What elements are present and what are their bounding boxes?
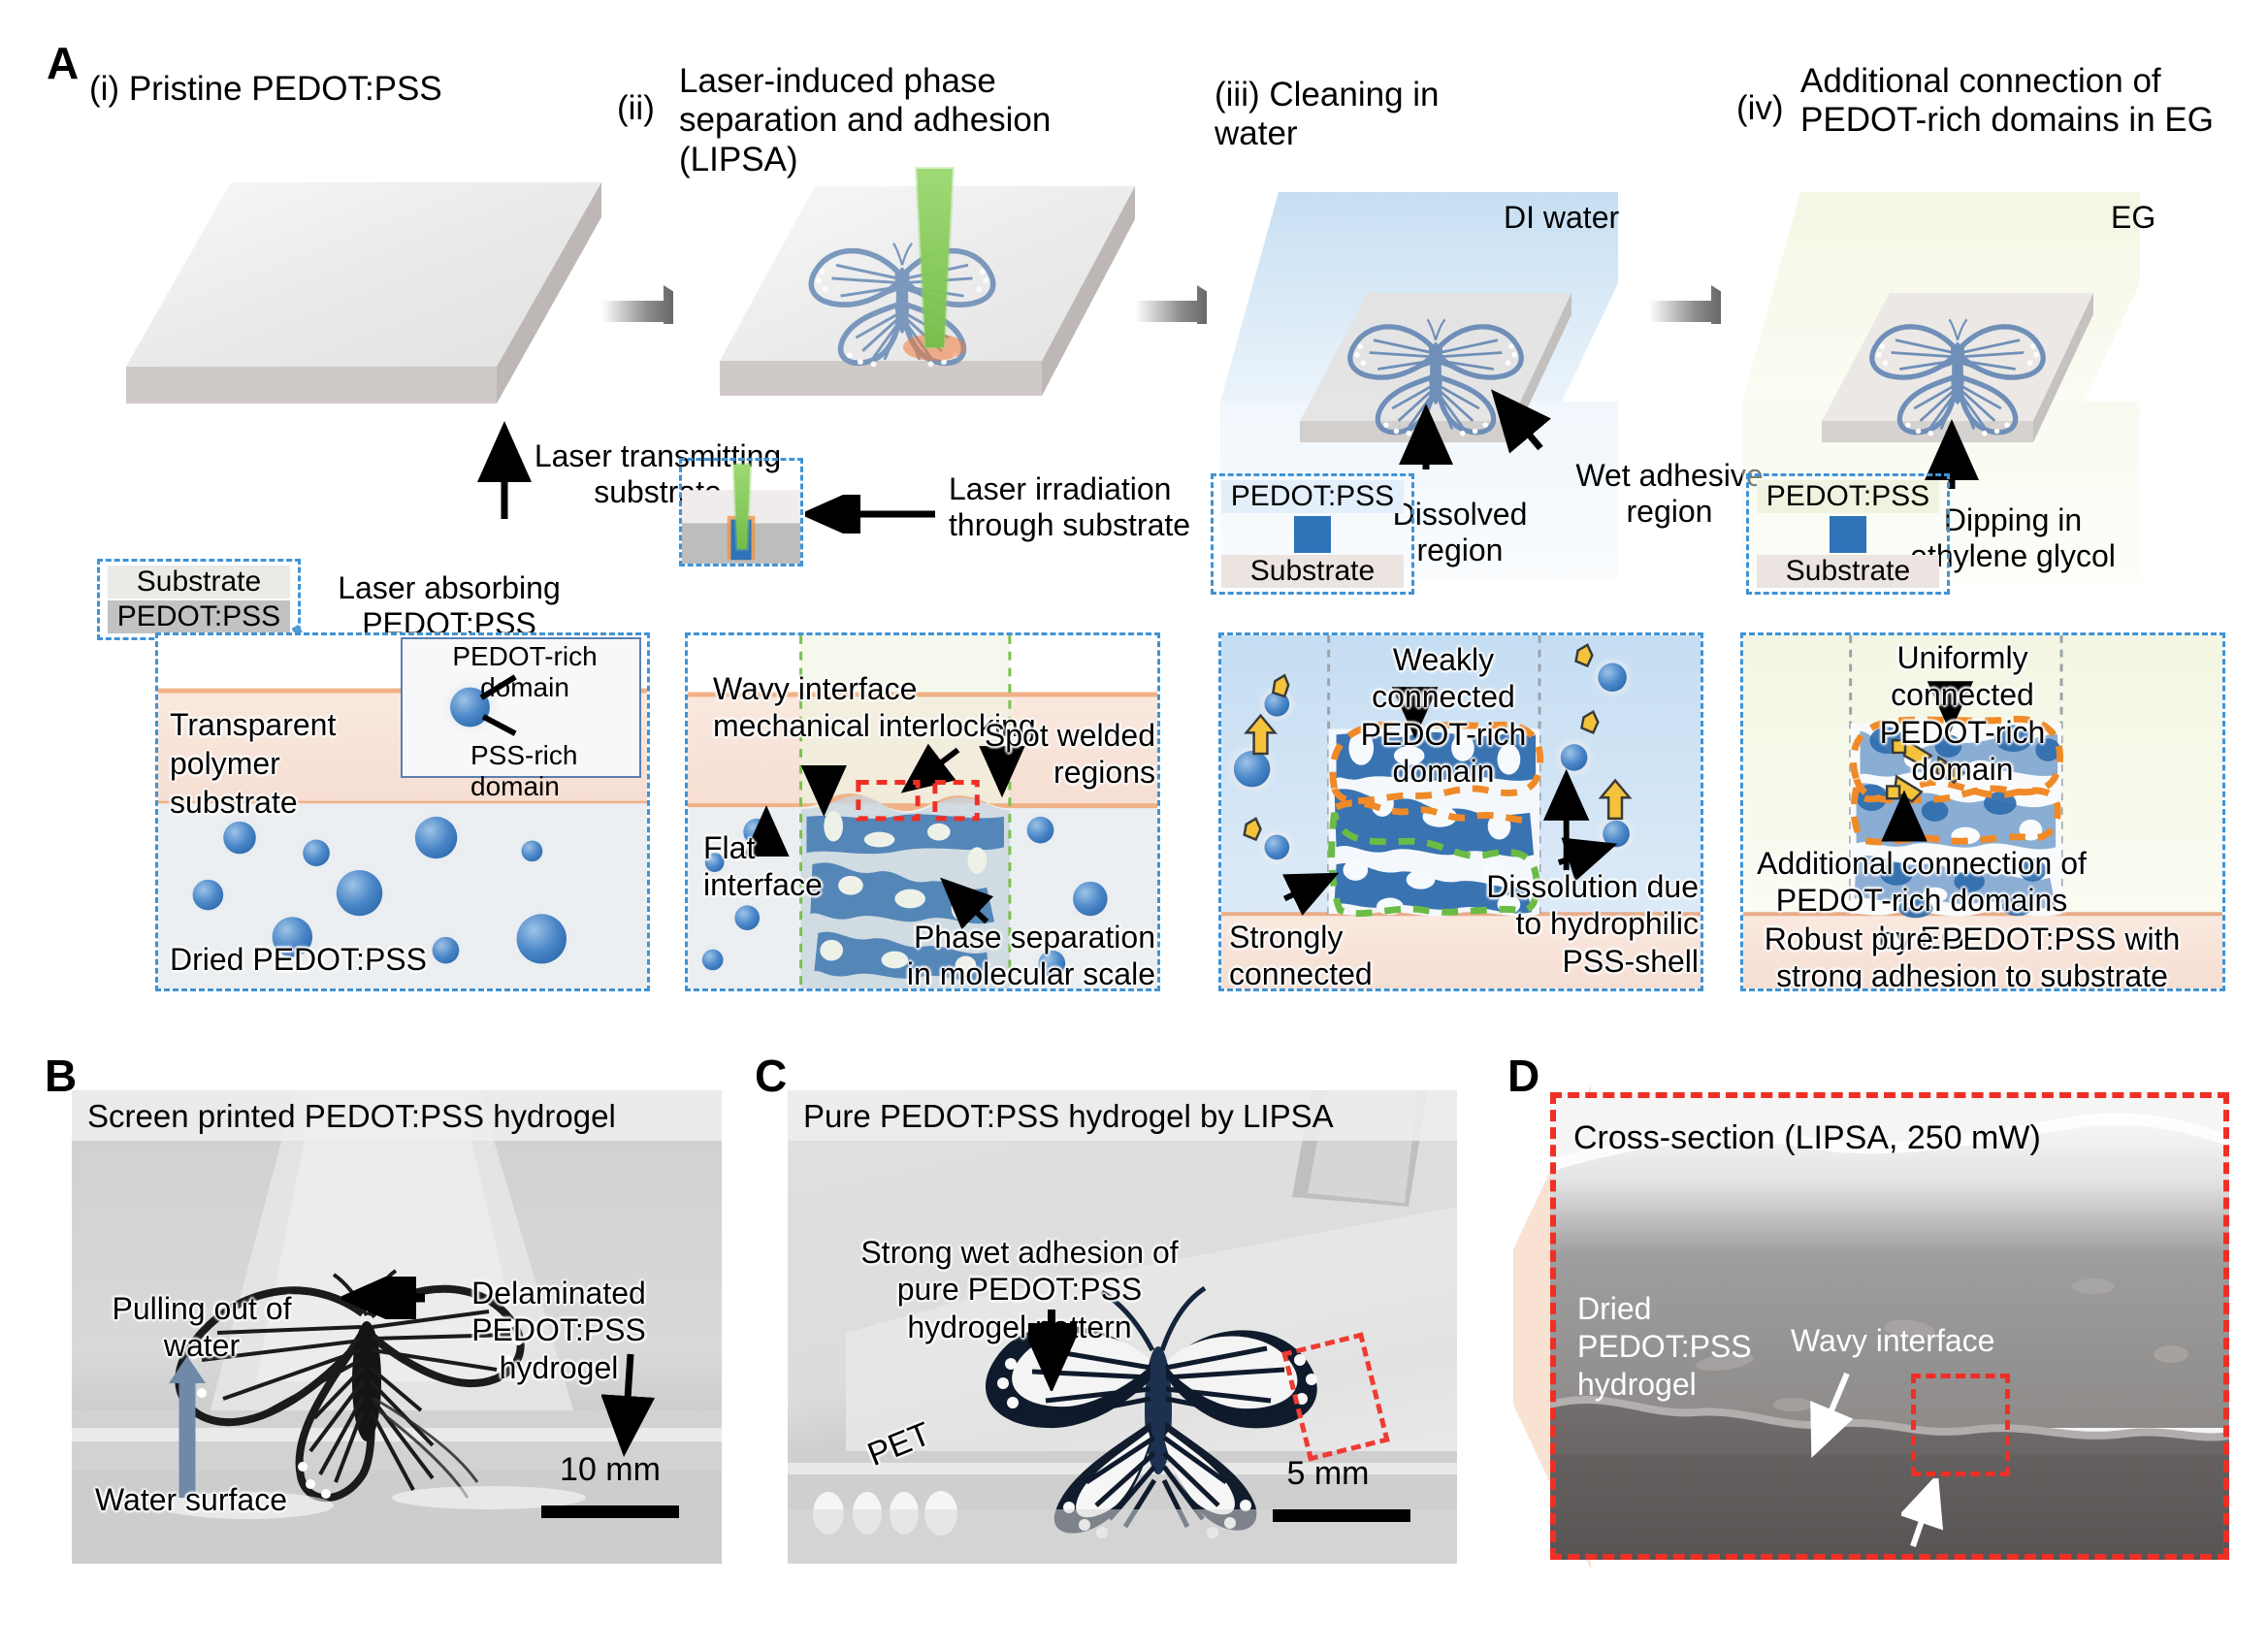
panel-d-spot-arrow: [1901, 1478, 1960, 1556]
panel-b-pulling-arrow: [161, 1354, 213, 1500]
step3-legend-pedot: PEDOT:PSS: [1221, 480, 1404, 513]
step1-3d-slab: [116, 175, 621, 437]
panel-b-scalebar: [541, 1505, 679, 1518]
panel-b-caption: Screen printed PEDOT:PSS hydrogel: [87, 1098, 616, 1135]
panel-c-caption: Pure PEDOT:PSS hydrogel by LIPSA: [803, 1098, 1334, 1135]
step3-micro-panel: Weakly connected PEDOT-rich domain Stron…: [1218, 632, 1703, 991]
step1-dried-label: Dried PEDOT:PSS: [170, 942, 427, 978]
step-number-ii: (ii): [617, 89, 660, 128]
step-heading-i: (i) Pristine PEDOT:PSS: [89, 70, 506, 109]
step4-medium-label: EG: [2111, 200, 2155, 236]
step3-medium-label: DI water: [1504, 200, 1619, 236]
step3-legend-swatch: [1294, 516, 1331, 553]
step1-legend: Substrate PEDOT:PSS: [97, 559, 301, 640]
panel-c-adhesion-arrow: [1028, 1306, 1077, 1391]
step-title-ii: Laser-induced phase separation and adhes…: [679, 62, 1135, 179]
step1-inset-pedot-label: PEDOT-rich domain: [408, 641, 641, 703]
panel-d-caption: Cross-section (LIPSA, 250 mW): [1573, 1119, 2041, 1157]
panel-label-c: C: [755, 1053, 787, 1098]
step4-uniform-label: Uniformly connected PEDOT-rich domain: [1836, 639, 2089, 789]
panel-c-strong-adhesion-label: Strong wet adhesion of pure PEDOT:PSS hy…: [840, 1234, 1199, 1345]
step-heading-iii: (iii) Cleaning in water: [1215, 76, 1506, 154]
panel-c-photo: Pure PEDOT:PSS hydrogel by LIPSA Strong …: [788, 1090, 1457, 1564]
step2-micro-panel: Wavy interface mechanical interlocking S…: [685, 632, 1160, 991]
step3-strong-label: Strongly connected PEDOT-rich domain: [1229, 919, 1475, 991]
step-number-iii: (iii): [1215, 76, 1260, 113]
step4-legend-substrate: Substrate: [1757, 555, 1939, 588]
step2-callout-laser: Laser irradiation through substrate: [949, 471, 1240, 543]
panel-d-wavy-arrow: [1798, 1370, 1866, 1463]
transition-arrow-3: [1649, 281, 1721, 324]
panel-c-scalebar: [1273, 1509, 1410, 1522]
transition-arrow-1: [601, 281, 673, 324]
step-number-i: (i): [89, 70, 119, 108]
step4-robust-label: Robust pure PEDOT:PSS with strong adhesi…: [1759, 921, 2186, 991]
step2-flat-label: Flat interface: [703, 829, 826, 904]
panel-b-delaminated-arrow-left: [341, 1277, 429, 1319]
panel-d-dried-label: Dried PEDOT:PSS hydrogel: [1577, 1290, 1771, 1404]
step4-legend: PEDOT:PSS Substrate: [1746, 473, 1950, 595]
step2-phase-label: Phase separation in molecular scale: [895, 919, 1155, 991]
step2-laser-inset: [679, 458, 803, 566]
transition-arrow-2: [1135, 281, 1207, 324]
step2-laser-arrow: [805, 495, 941, 534]
panel-d-inner-zoom-region: [1911, 1374, 2010, 1476]
panel-d-wavy-label: Wavy interface: [1791, 1323, 1994, 1359]
panel-b-water-surface-label: Water surface: [95, 1482, 287, 1518]
panel-label-a: A: [47, 41, 79, 85]
step4-legend-swatch: [1830, 516, 1866, 553]
step-title-iv: Additional connection of PEDOT-rich doma…: [1800, 62, 2237, 141]
step1-legend-pedot: PEDOT:PSS: [108, 600, 290, 633]
step1-inset-pss-label: PSS-rich domain: [470, 740, 640, 802]
step3-legend: PEDOT:PSS Substrate: [1211, 473, 1414, 595]
step-title-i: Pristine PEDOT:PSS: [129, 70, 442, 108]
step1-transparent-substrate-label: Transparent polymer substrate: [170, 705, 364, 822]
step2-spot-label: Spot welded regions: [956, 717, 1155, 792]
panel-c-scalebar-label: 5 mm: [1246, 1455, 1410, 1493]
step4-legend-pedot: PEDOT:PSS: [1757, 480, 1939, 513]
panel-b-photo: Screen printed PEDOT:PSS hydrogel Pullin…: [72, 1090, 722, 1564]
step-number-iv: (iv): [1736, 89, 1785, 128]
step1-micro-panel: PEDOT-rich domain PSS-rich domain Transp…: [155, 632, 650, 991]
step3-dissolution-label: Dissolution due to hydrophilic PSS-shell: [1462, 868, 1699, 980]
step2-3d-slab: [708, 165, 1164, 437]
step1-legend-substrate: Substrate: [108, 566, 290, 599]
panel-b-delaminated-arrow-down: [601, 1350, 656, 1457]
step3-legend-substrate: Substrate: [1221, 555, 1404, 588]
step1-inset-domain: PEDOT-rich domain PSS-rich domain: [401, 637, 641, 778]
panel-b-delaminated-label: Delaminated PEDOT:PSS hydrogel: [413, 1275, 704, 1386]
panel-d-photo: Cross-section (LIPSA, 250 mW) Dried PEDO…: [1550, 1092, 2229, 1560]
panel-b-scalebar-label: 10 mm: [528, 1451, 693, 1489]
step4-micro-panel: Uniformly connected PEDOT-rich domain Ad…: [1740, 632, 2225, 991]
step3-weak-label: Weakly connected PEDOT-rich domain: [1322, 641, 1565, 791]
